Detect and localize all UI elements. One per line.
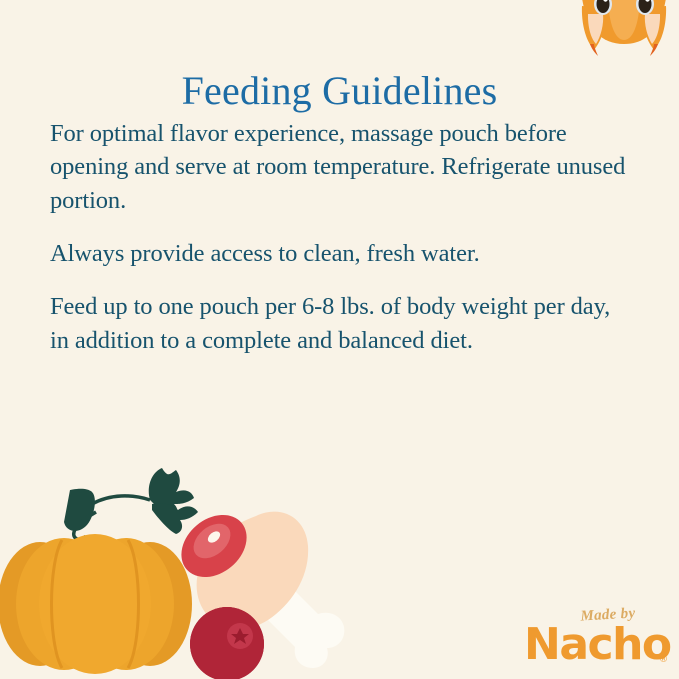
cranberry-icon <box>190 607 264 679</box>
instruction-paragraph-3: Feed up to one pouch per 6-8 lbs. of bod… <box>50 290 635 357</box>
logo-wordmark: Nacho <box>524 623 671 667</box>
registered-trademark-icon: ® <box>659 655 668 665</box>
instruction-paragraph-2: Always provide access to clean, fresh wa… <box>50 237 635 270</box>
feeding-instructions: For optimal flavor experience, massage p… <box>50 117 635 357</box>
brand-logo: Made by Nacho ® <box>524 607 672 673</box>
pumpkin-icon <box>0 468 198 674</box>
page-title: Feeding Guidelines <box>0 67 679 114</box>
cat-peeking-icon <box>578 0 670 62</box>
food-illustration <box>0 464 360 679</box>
feeding-guidelines-page: Feeding Guidelines For optimal flavor ex… <box>0 0 679 679</box>
instruction-paragraph-1: For optimal flavor experience, massage p… <box>50 117 635 217</box>
